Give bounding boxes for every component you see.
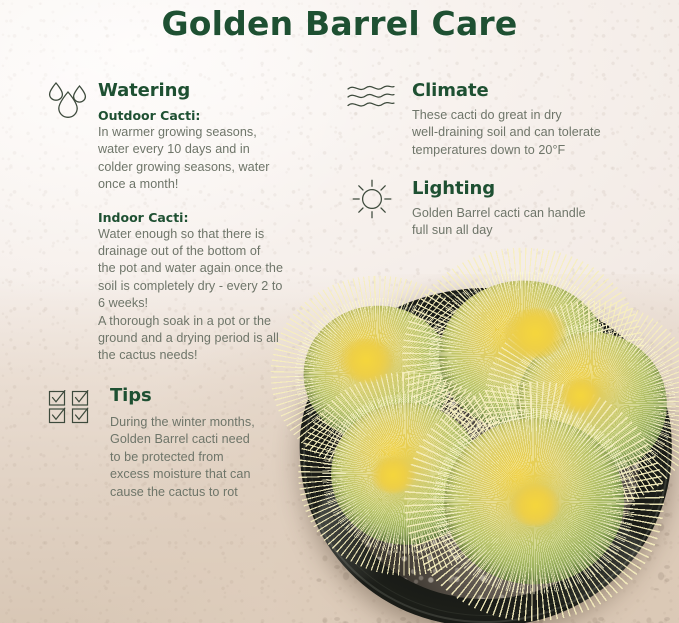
wavy-lines-icon xyxy=(346,82,396,112)
section-lighting: Lighting Golden Barrel cacti can handle … xyxy=(412,178,640,240)
section-heading: Watering xyxy=(98,80,316,102)
section-watering: Watering Outdoor Cacti: In warmer growin… xyxy=(98,80,316,365)
subsection-heading-outdoor: Outdoor Cacti: xyxy=(98,107,316,124)
section-body-outdoor: In warmer growing seasons, water every 1… xyxy=(98,124,316,194)
section-body-indoor: Water enough so that there is drainage o… xyxy=(98,226,316,365)
section-body: Golden Barrel cacti can handle full sun … xyxy=(412,205,640,240)
section-climate: Climate These cacti do great in dry well… xyxy=(412,80,640,159)
checkbox-grid-icon xyxy=(48,390,94,424)
section-heading: Climate xyxy=(412,80,640,102)
section-body: During the winter months, Golden Barrel … xyxy=(110,414,310,501)
section-heading: Tips xyxy=(110,385,310,407)
page-title: Golden Barrel Care xyxy=(0,4,679,44)
section-body: These cacti do great in dry well-drainin… xyxy=(412,107,640,159)
section-tips: Tips During the winter months, Golden Ba… xyxy=(110,385,310,501)
sun-icon xyxy=(351,178,393,220)
water-drops-icon xyxy=(46,78,92,120)
section-heading: Lighting xyxy=(412,178,640,200)
subsection-heading-indoor: Indoor Cacti: xyxy=(98,209,316,226)
